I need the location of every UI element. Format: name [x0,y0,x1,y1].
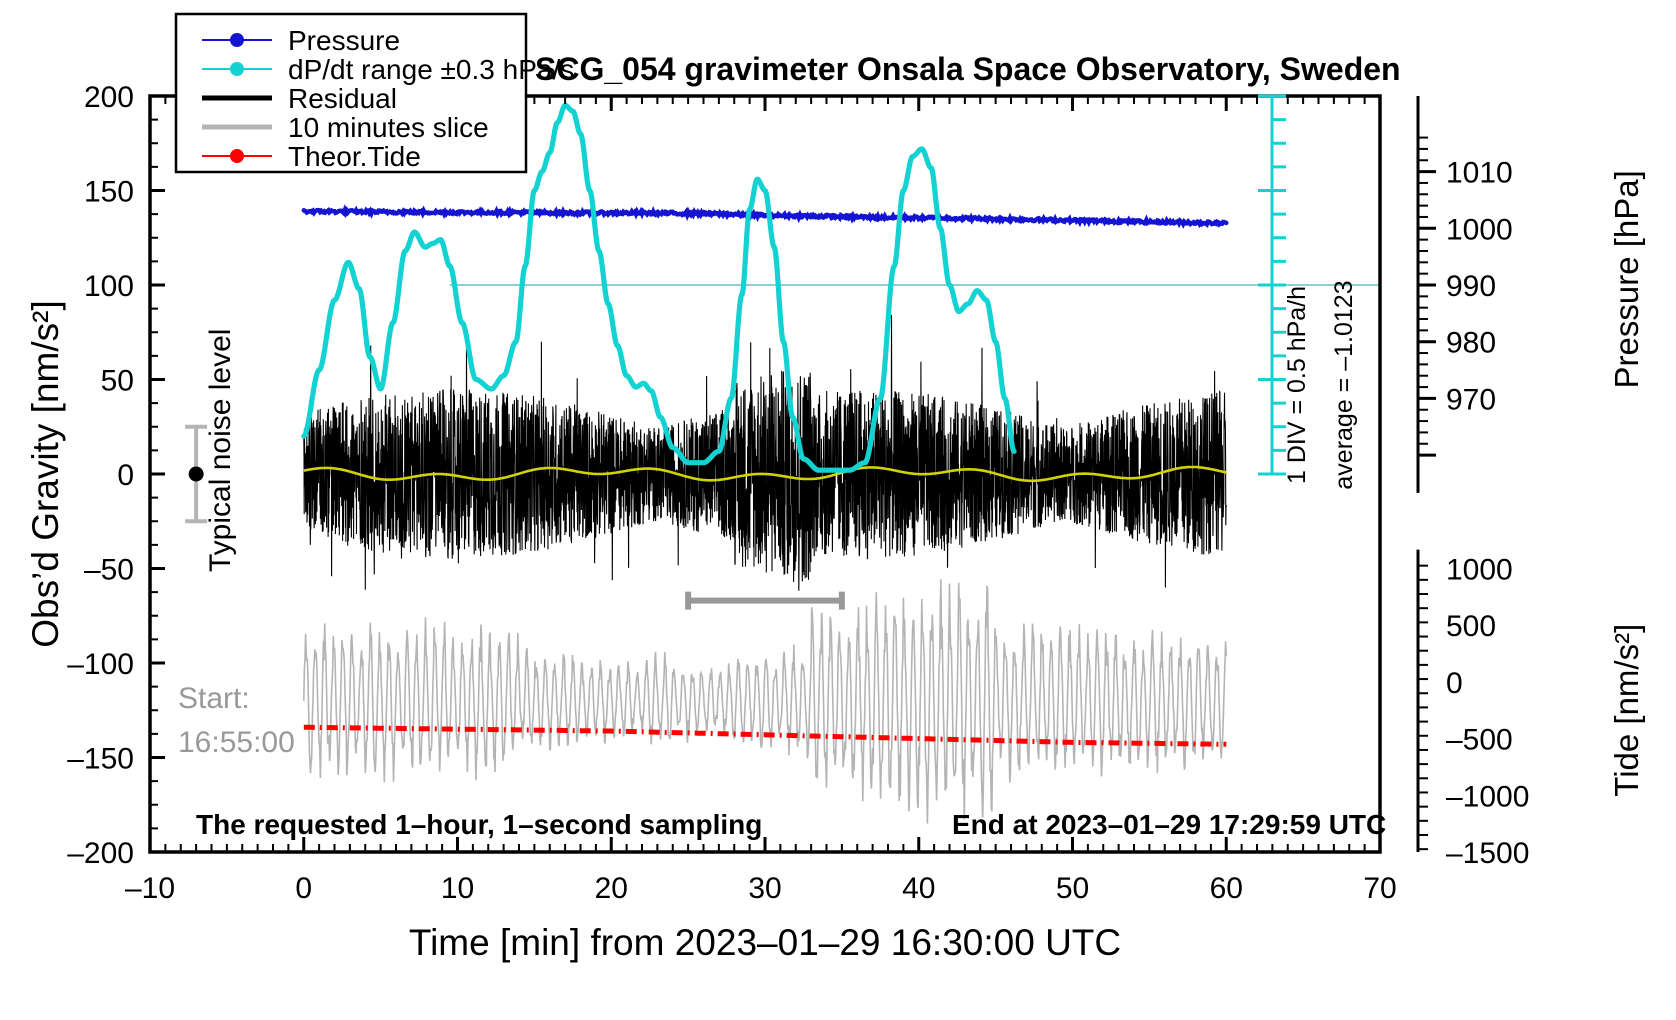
pressure-axis-title: Pressure [hPa] [1608,170,1645,388]
y-tick-label: –50 [84,554,134,587]
y-tick-label: 100 [84,270,134,303]
pressure-tick-label: 1010 [1446,157,1513,190]
x-tick-label: 30 [748,872,781,905]
tide-tick-label: 0 [1446,667,1463,700]
x-tick-label: 0 [295,872,312,905]
chart-title: SCG_054 gravimeter Onsala Space Observat… [535,51,1401,87]
legend-label: Residual [288,83,397,114]
y-tick-label: 0 [117,459,134,492]
div-scale-note: 1 DIV = 0.5 hPa/h [1283,286,1311,484]
y-tick-label: –200 [67,837,134,870]
start-time-value: 16:55:00 [178,726,295,759]
y-tick-label: 200 [84,81,134,114]
legend-label: Pressure [288,25,400,56]
sampling-note: The requested 1–hour, 1–second sampling [196,809,762,840]
x-tick-label: 20 [595,872,628,905]
x-tick-label: 40 [902,872,935,905]
legend-marker [230,149,244,163]
x-tick-label: 60 [1210,872,1243,905]
pressure-tick-label: 1000 [1446,213,1513,246]
x-tick-label: 50 [1056,872,1089,905]
pressure-tick-label: 970 [1446,383,1496,416]
start-label: Start: [178,682,250,715]
average-note: average = –1.0123 [1330,280,1358,489]
typical-noise-level-label: Typical noise level [204,329,237,572]
legend-label: dP/dt range ±0.3 hPa/s [288,54,574,85]
y-tick-label: 50 [101,365,134,398]
gravimeter-chart: Typical noise level–10010203040506070–20… [0,0,1676,1020]
y-axis-title: Obs’d Gravity [nm/s²] [25,300,66,647]
legend-marker [230,62,244,76]
tide-tick-label: –500 [1446,724,1513,757]
chart-page: Typical noise level–10010203040506070–20… [0,0,1676,1020]
tide-tick-label: 1000 [1446,554,1513,587]
x-axis-title: Time [min] from 2023–01–29 16:30:00 UTC [409,922,1121,963]
tide-tick-label: 500 [1446,610,1496,643]
x-tick-label: –10 [125,872,175,905]
x-tick-label: 70 [1363,872,1396,905]
tide-tick-label: –1500 [1446,837,1529,870]
y-tick-label: 150 [84,176,134,209]
x-tick-label: 10 [441,872,474,905]
legend-label: Theor.Tide [288,141,421,172]
pressure-tick-label: 990 [1446,270,1496,303]
y-tick-label: –100 [67,648,134,681]
legend-label: 10 minutes slice [288,112,489,143]
y-tick-label: –150 [67,743,134,776]
tide-axis-title: Tide [nm/s²] [1608,624,1645,797]
tide-tick-label: –1000 [1446,780,1529,813]
pressure-tick-label: 980 [1446,327,1496,360]
legend-marker [230,33,244,47]
end-time-note: End at 2023–01–29 17:29:59 UTC [952,809,1386,840]
